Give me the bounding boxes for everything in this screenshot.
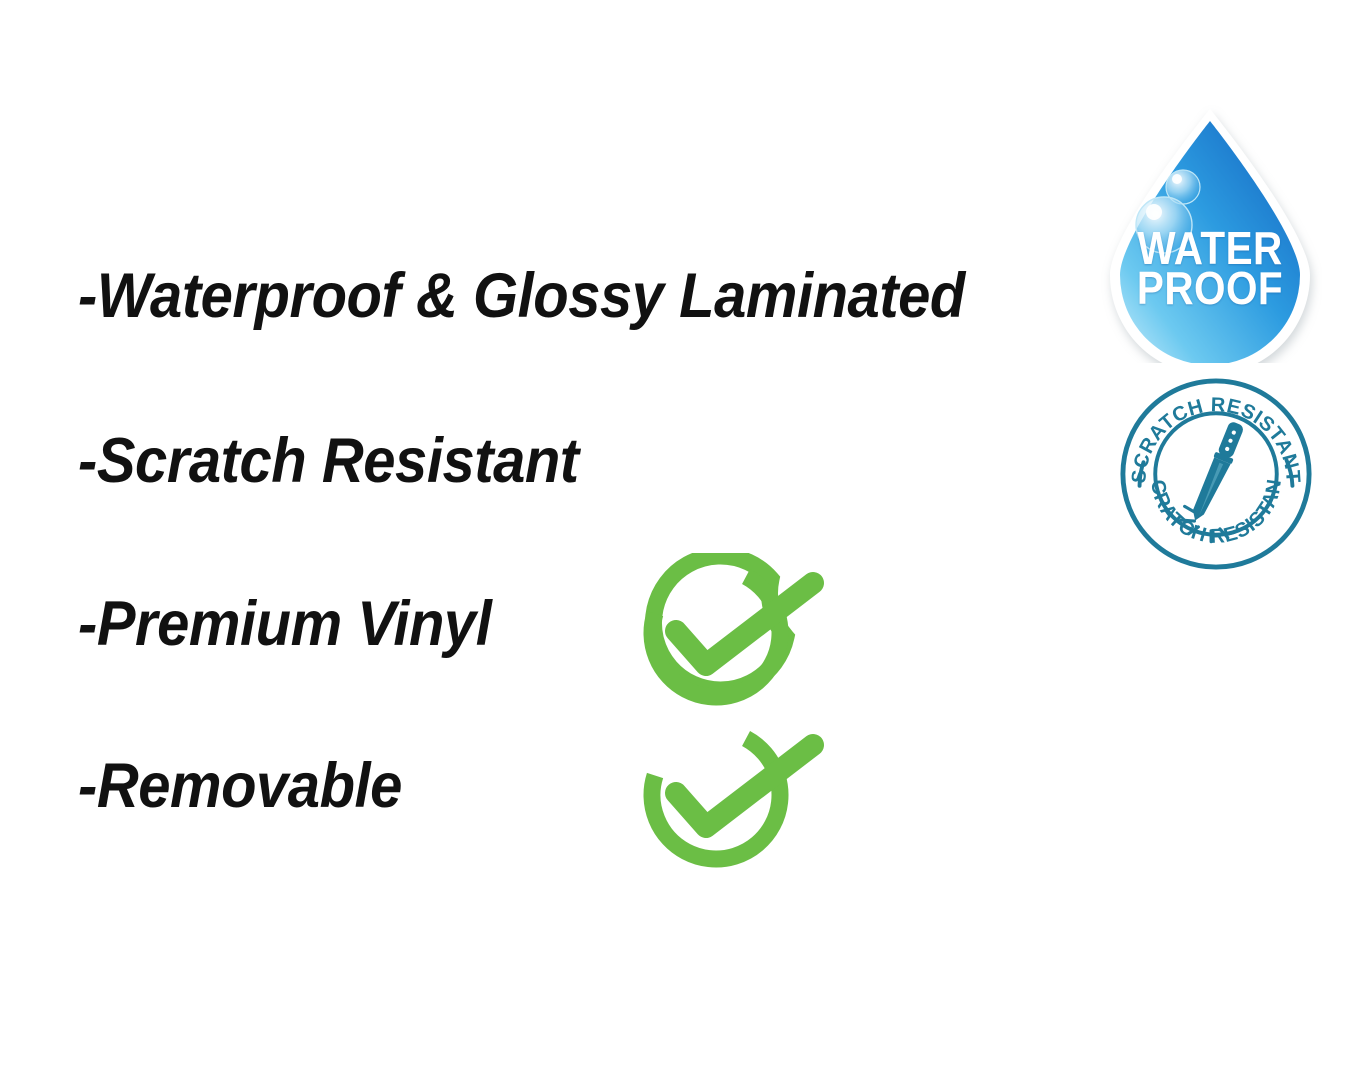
feature-text-removable: -Removable bbox=[78, 755, 402, 818]
feature-text-premium-vinyl: -Premium Vinyl bbox=[78, 593, 491, 656]
check-circle-icon-1 bbox=[638, 553, 828, 713]
knife-stamp-icon: SCRATCH RESISTANT SCRATCH RESISTANT bbox=[1118, 376, 1314, 572]
check-circle-icon-2 bbox=[638, 715, 828, 875]
feature-text-scratch-resistant: -Scratch Resistant bbox=[78, 430, 579, 493]
water-drop-icon: WATER PROOF bbox=[1098, 105, 1322, 363]
feature-text-waterproof: -Waterproof & Glossy Laminated bbox=[78, 265, 965, 328]
feature-graphic-canvas: -Waterproof & Glossy Laminated -Scratch … bbox=[0, 0, 1359, 1080]
